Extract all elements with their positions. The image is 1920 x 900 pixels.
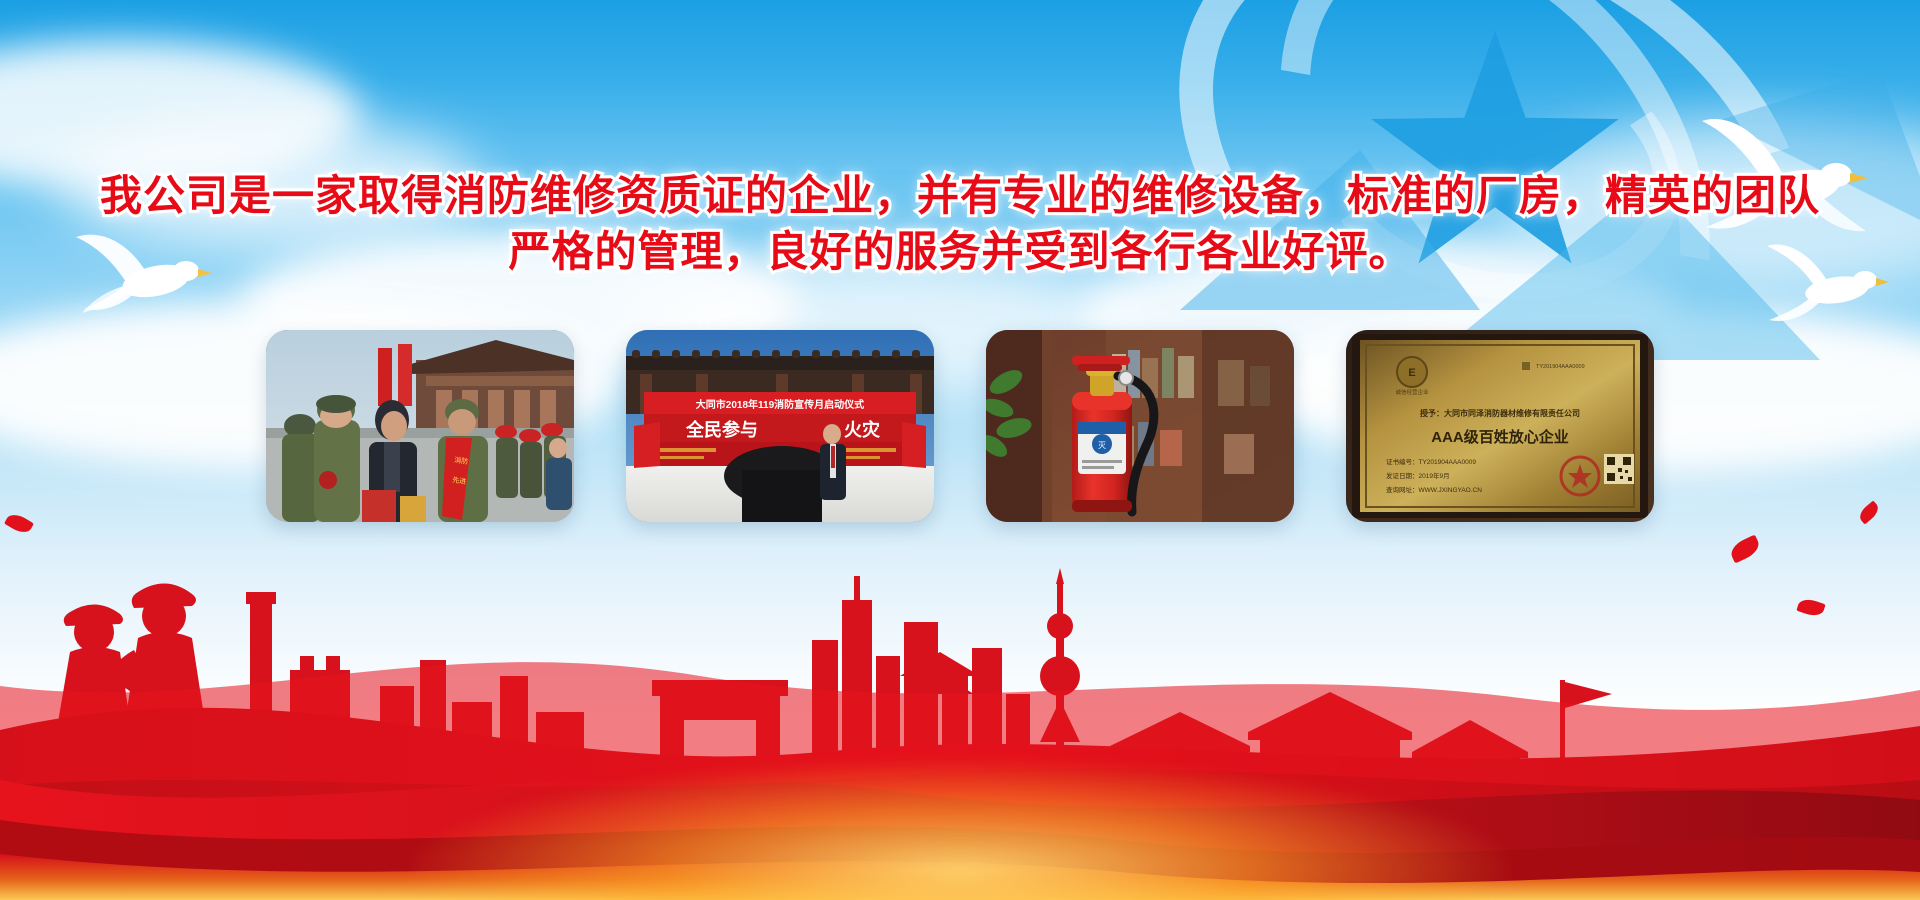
headline-line-1: 我公司是一家取得消防维修资质证的企业，并有专业的维修设备，标准的厂房，精英的团队 — [0, 168, 1920, 224]
svg-text:火灾: 火灾 — [844, 419, 880, 440]
svg-text:E: E — [1408, 367, 1415, 379]
page-title: 我公司是一家取得消防维修资质证的企业，并有专业的维修设备，标准的厂房，精英的团队… — [0, 168, 1920, 280]
svg-text:TY201904AAA0009: TY201904AAA0009 — [1536, 364, 1585, 370]
svg-text:发证日期：2019年9月: 发证日期：2019年9月 — [1386, 471, 1450, 480]
svg-text:全民参与: 全民参与 — [685, 419, 758, 440]
fire-safety-hero-banner: 我公司是一家取得消防维修资质证的企业，并有专业的维修设备，标准的厂房，精英的团队… — [0, 0, 1920, 900]
svg-text:证书编号：TY201904AAA0009: 证书编号：TY201904AAA0009 — [1386, 457, 1476, 466]
svg-text:授予：大同市同泽消防器材维修有限责任公司: 授予：大同市同泽消防器材维修有限责任公司 — [1420, 408, 1580, 418]
red-foreground-decor — [0, 480, 1920, 900]
svg-text:AAA级百姓放心企业: AAA级百姓放心企业 — [1431, 428, 1569, 446]
svg-text:大同市2018年119消防宣传月启动仪式: 大同市2018年119消防宣传月启动仪式 — [696, 398, 864, 411]
svg-text:灭: 灭 — [1098, 441, 1106, 450]
svg-text:诚信经营企业: 诚信经营企业 — [1395, 388, 1429, 396]
headline-line-2: 严格的管理，良好的服务并受到各行各业好评。 — [0, 224, 1920, 280]
bottom-gold-glow — [410, 760, 1510, 900]
